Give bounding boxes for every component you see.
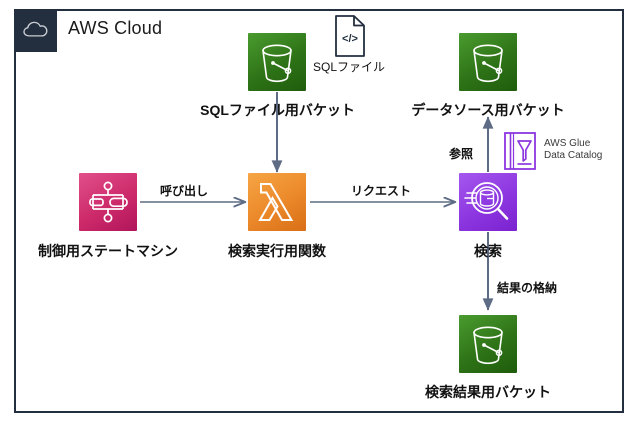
s3-bucket-icon — [459, 315, 517, 373]
edge-label-invoke: 呼び出し — [160, 182, 208, 199]
glue-data-catalog-icon — [503, 131, 537, 176]
glue-label-line-2: Data Catalog — [544, 150, 602, 162]
s3-bucket-icon — [459, 33, 517, 91]
node-label-data-source-bucket: データソース用バケット — [400, 100, 576, 120]
node-label-state-machine: 制御用ステートマシン — [23, 241, 193, 261]
diagram-canvas: AWS Cloud — [0, 0, 640, 428]
node-query-lambda[interactable] — [248, 173, 306, 231]
cloud-icon — [14, 9, 57, 52]
node-state-machine[interactable] — [79, 173, 137, 231]
node-result-bucket[interactable] — [459, 315, 517, 373]
node-data-source-bucket[interactable] — [459, 33, 517, 91]
node-athena[interactable] — [459, 173, 517, 231]
artifact-label-sql-file: SQLファイル — [313, 58, 385, 75]
node-sql-file-bucket[interactable] — [248, 33, 306, 91]
glue-label-line-1: AWS Glue — [544, 138, 602, 150]
svg-text:</>: </> — [342, 33, 358, 45]
node-label-query-lambda: 検索実行用関数 — [207, 241, 347, 261]
athena-icon — [459, 173, 517, 231]
edge-label-store-result: 結果の格納 — [497, 279, 557, 296]
node-label-result-bucket: 検索結果用バケット — [412, 382, 564, 402]
node-label-athena: 検索 — [459, 241, 517, 261]
sql-document-icon: </> — [333, 14, 367, 63]
artifact-label-glue-data-catalog: AWS Glue Data Catalog — [544, 138, 602, 162]
page-title: AWS Cloud — [68, 18, 162, 39]
step-functions-icon — [79, 173, 137, 231]
edge-label-request: リクエスト — [351, 182, 411, 199]
edge-label-reference: 参照 — [449, 145, 473, 162]
node-label-sql-file-bucket: SQLファイル用バケット — [190, 100, 365, 120]
s3-bucket-icon — [248, 33, 306, 91]
lambda-icon — [248, 173, 306, 231]
